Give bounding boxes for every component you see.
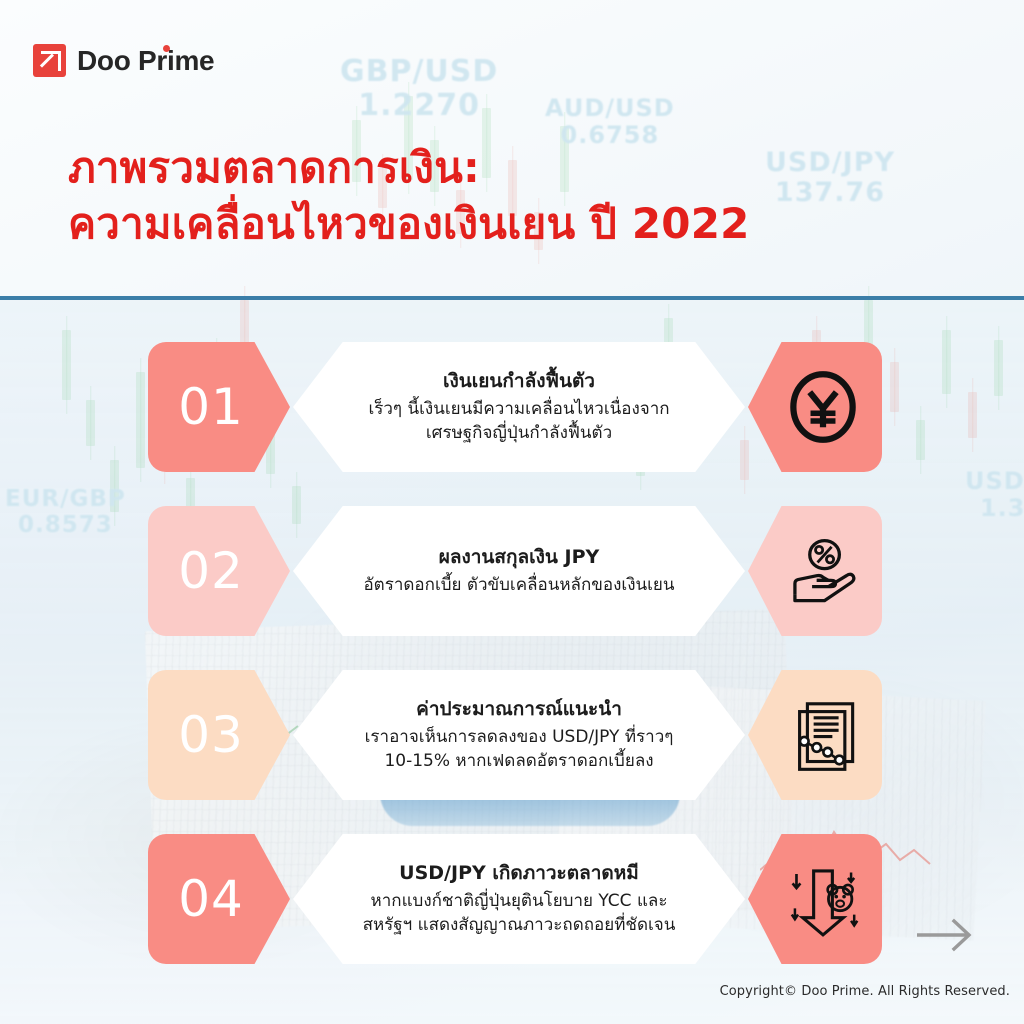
brand-name: Doo Prime: [77, 45, 214, 77]
content-card-body-line-1: เร็วๆ นี้เงินเยนมีความเคลื่อนไหวเนื่องจา…: [368, 397, 669, 421]
content-row: 01เงินเยนกำลังฟื้นตัวเร็วๆ นี้เงินเยนมีค…: [0, 342, 1024, 472]
candlestick-bar: [240, 300, 249, 344]
content-card-body-line-2: เศรษฐกิจญี่ปุ่นกำลังฟื้นตัว: [426, 421, 612, 445]
logo-dot-icon: [163, 45, 170, 52]
content-card: ผลงานสกุลเงิน JPYอัตราดอกเบี้ย ตัวขับเคล…: [293, 506, 745, 636]
content-card-title: ผลงานสกุลเงิน JPY: [439, 545, 600, 571]
content-card-title: เงินเยนกำลังฟื้นตัว: [443, 369, 595, 395]
step-number: 03: [178, 706, 244, 764]
step-number: 02: [178, 542, 244, 600]
content-card: ค่าประมาณการณ์แนะนำเราอาจเห็นการลดลงของ …: [293, 670, 745, 800]
page-title: ภาพรวมตลาดการเงิน: ความเคลื่อนไหวของเงิน…: [68, 140, 948, 252]
fx-watermark-pair: AUD/USD: [545, 95, 675, 122]
content-card-title: USD/JPY เกิดภาวะตลาดหมี: [399, 861, 639, 887]
content-row: 04USD/JPY เกิดภาวะตลาดหมีหากแบงก์ชาติญี่…: [0, 834, 1024, 964]
step-number-badge: 01: [148, 342, 290, 472]
step-number-badge: 02: [148, 506, 290, 636]
content-card-title: ค่าประมาณการณ์แนะนำ: [416, 697, 622, 723]
page-title-line-2: ความเคลื่อนไหวของเงินเยน ปี 2022: [68, 196, 948, 252]
copyright-text: Copyright© Doo Prime. All Rights Reserve…: [720, 984, 1010, 999]
content-row: 02ผลงานสกุลเงิน JPYอัตราดอกเบี้ย ตัวขับเ…: [0, 506, 1024, 636]
yen-coin-icon: [784, 368, 862, 446]
bear-market-down-arrow-icon: [784, 860, 862, 938]
fx-watermark-pair: GBP/USD: [340, 55, 498, 89]
step-number: 01: [178, 378, 244, 436]
content-card-body-line-1: เราอาจเห็นการลดลงของ USD/JPY ที่ราวๆ: [365, 725, 674, 749]
page-title-line-1: ภาพรวมตลาดการเงิน:: [68, 140, 948, 196]
content-row: 03ค่าประมาณการณ์แนะนำเราอาจเห็นการลดลงขอ…: [0, 670, 1024, 800]
step-icon-badge: [748, 506, 882, 636]
doo-prime-logo-mark-icon: [33, 44, 66, 77]
step-icon-badge: [748, 834, 882, 964]
step-number-badge: 04: [148, 834, 290, 964]
report-declining-chart-icon: [784, 696, 862, 774]
arrow-right-icon[interactable]: [915, 918, 977, 952]
content-card-body-line-1: หากแบงก์ชาติญี่ปุ่นยุตินโยบาย YCC และ: [371, 889, 668, 913]
infographic-page: GBP/USD1.2270AUD/USD0.6758USD/JPY137.76E…: [0, 0, 1024, 1024]
content-card: USD/JPY เกิดภาวะตลาดหมีหากแบงก์ชาติญี่ปุ…: [293, 834, 745, 964]
fx-watermark: GBP/USD1.2270: [340, 55, 498, 122]
content-card-body-line-2: สหรัฐฯ แสดงสัญญาณภาวะถดถอยที่ชัดเจน: [363, 913, 676, 937]
hand-percent-icon: [784, 532, 862, 610]
fx-watermark-value: 1.2270: [340, 89, 498, 123]
step-number-badge: 03: [148, 670, 290, 800]
step-number: 04: [178, 870, 244, 928]
brand-name-text: Doo Prime: [77, 45, 214, 76]
header-divider: [0, 296, 1024, 300]
step-icon-badge: [748, 342, 882, 472]
content-card-body-line-1: อัตราดอกเบี้ย ตัวขับเคลื่อนหลักของเงินเย…: [363, 573, 674, 597]
step-icon-badge: [748, 670, 882, 800]
content-card-body-line-2: 10-15% หากเฟดลดอัตราดอกเบี้ยลง: [384, 749, 653, 773]
content-card: เงินเยนกำลังฟื้นตัวเร็วๆ นี้เงินเยนมีควา…: [293, 342, 745, 472]
brand-logo[interactable]: Doo Prime: [33, 44, 214, 77]
fx-watermark-pair: USD/CAD: [965, 468, 1024, 495]
